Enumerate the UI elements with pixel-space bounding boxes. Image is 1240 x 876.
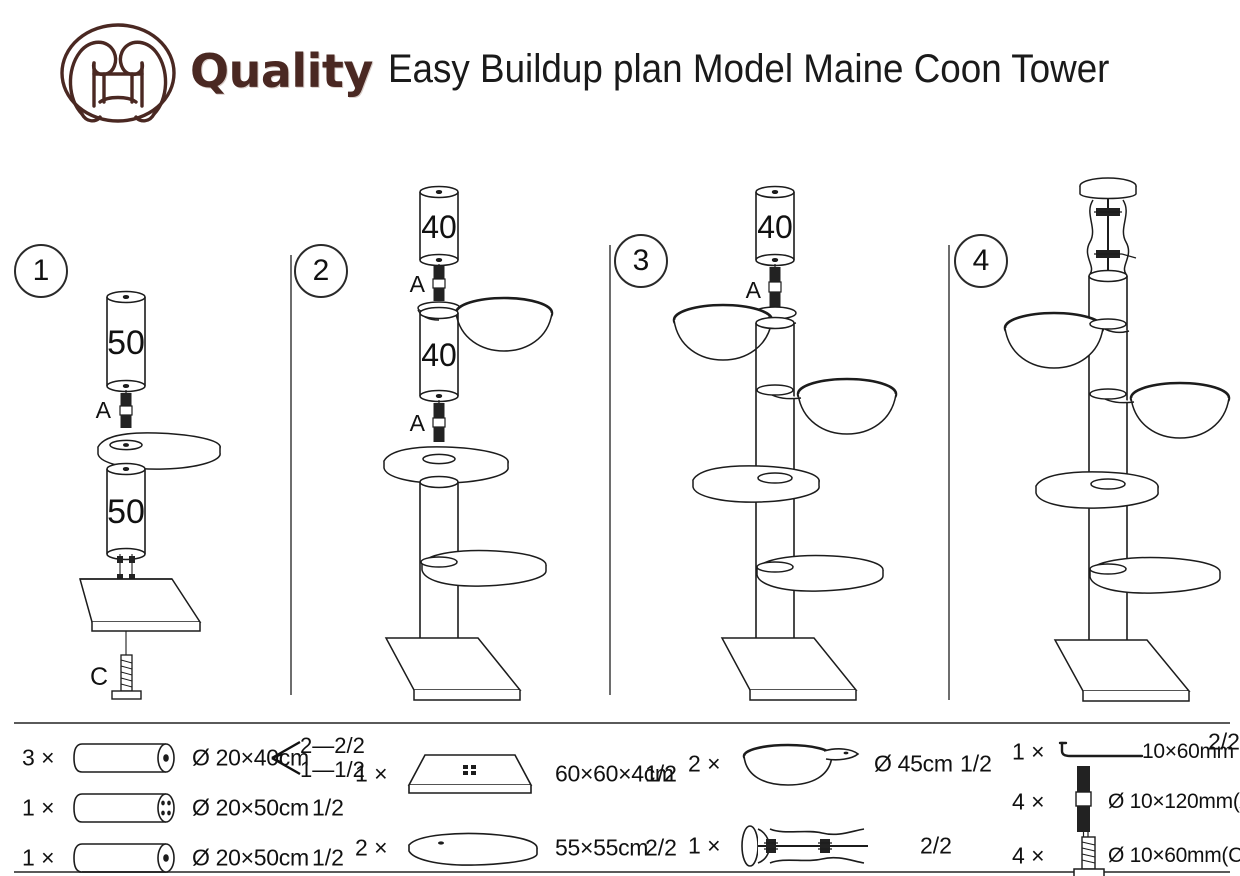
platform-shelf-icon [403,827,543,869]
part-page-ref: 2/2 [645,835,677,862]
step-number-3: 3 [633,244,650,278]
bolt-a-graphic [769,264,781,308]
part-row: 2 × Ø 45cm 1/2 [688,740,998,788]
pole-label-lower: 50 [107,493,145,531]
cylinder-pole-4hole-icon [72,788,182,828]
step-1-illustration: 50 A [60,150,290,695]
part-quantity: 4 × [1012,789,1045,816]
parts-column-2: 1 × 60×60× [355,724,675,872]
bolt-label-a: A [746,277,762,303]
parts-list: 3 × Ø 20×40cm [0,724,1240,874]
part-row: 1 × [22,784,352,832]
part-page-ref: 2/2 [920,833,952,860]
assembly-instruction-sheet: Quality Easy Buildup plan Model Maine Co… [0,0,1240,876]
part-row: 1 × 60×60× [355,750,675,798]
part-page-ref: 1/2 [312,845,344,872]
part-spec: Ø 10×120mm(A) [1108,790,1240,814]
parts-column-4: 1 × 10×60mm 2/2 4 × [1012,724,1240,872]
part-quantity: 1 × [22,845,55,872]
step-4-illustration [998,150,1240,710]
bolt-label-a: A [96,397,112,423]
part-spec: Ø 10×60mm(C) [1108,844,1240,868]
bolt-label-a-lower: A [410,410,426,436]
pole-label-upper: 50 [107,324,145,362]
step-number-1: 1 [33,254,50,288]
bolt-a-lower-graphic [433,400,445,442]
bolt-a-graphic [120,390,132,428]
part-spec: Ø 20×50cm [192,795,309,822]
bolt-a-upper-graphic [433,264,445,301]
cylinder-pole-icon [72,738,182,778]
step-number-4: 4 [973,244,990,278]
part-page-ref: 1/2 [312,795,344,822]
part-row: 4 × Ø 10×60mm(C) [1012,832,1240,876]
page-title: Easy Buildup plan Model Maine Coon Tower [388,47,1109,92]
part-row: 2 × 55×55cm 2/2 [355,824,675,872]
part-spec: Ø 45cm [874,751,953,778]
part-page-ref: 2/2 [1208,729,1240,756]
brand-name: Quality [190,44,373,98]
part-page-ref: 1/2 [645,761,677,788]
callout-arrow-icon [270,736,304,780]
part-quantity: 3 × [22,745,55,772]
part-quantity: 2 × [355,835,388,862]
part-quantity: 1 × [355,761,388,788]
allen-key-icon [1054,737,1150,767]
step-number-badge-2: 2 [294,244,348,298]
pole-label-upper: 40 [421,209,457,245]
rr-monogram-logo-icon [42,22,194,124]
ceiling-tensioner-icon [736,821,876,871]
screw-label-c: C [90,663,108,691]
flat-head-screw-icon [1072,831,1106,876]
part-row: 1 × Ø 20×50cm 1/2 [22,834,352,876]
part-spec: Ø 20×50cm [192,845,309,872]
sheet-header: Quality Easy Buildup plan Model Maine Co… [0,0,1240,140]
parts-column-1: 3 × Ø 20×40cm [22,724,352,872]
part-quantity: 1 × [22,795,55,822]
base-plate-icon [403,749,543,799]
part-quantity: 4 × [1012,843,1045,870]
step-divider-2 [609,245,611,695]
pole-label-lower: 40 [421,337,457,373]
cylinder-pole-icon [72,838,182,876]
step-2-illustration: 40 A [370,150,600,710]
step-number-2: 2 [313,254,330,288]
parts-column-3: 2 × Ø 45cm 1/2 1 × [688,724,998,872]
part-quantity: 2 × [688,751,721,778]
part-quantity: 1 × [688,833,721,860]
step-3-illustration: 40 A [665,150,915,710]
step-number-badge-3: 3 [614,234,668,288]
bowl-bed-icon [736,739,866,789]
part-row: 1 × [688,822,998,870]
step-divider-3 [948,245,950,700]
double-ended-bolt-icon [1072,764,1096,840]
screw-c-graphic [112,631,141,699]
bolt-label-a-upper: A [410,271,426,297]
pole-label-upper: 40 [757,209,793,245]
part-quantity: 1 × [1012,739,1045,766]
part-page-ref: 1/2 [960,751,992,778]
part-spec: 55×55cm [555,835,648,862]
part-row: 4 × Ø 10×120mm(A) [1012,778,1240,826]
step-divider-1 [290,255,292,695]
assembly-steps: 1 50 [0,150,1240,722]
part-row: 1 × 10×60mm 2/2 [1012,728,1240,776]
part-row: 3 × Ø 20×40cm [22,734,352,782]
